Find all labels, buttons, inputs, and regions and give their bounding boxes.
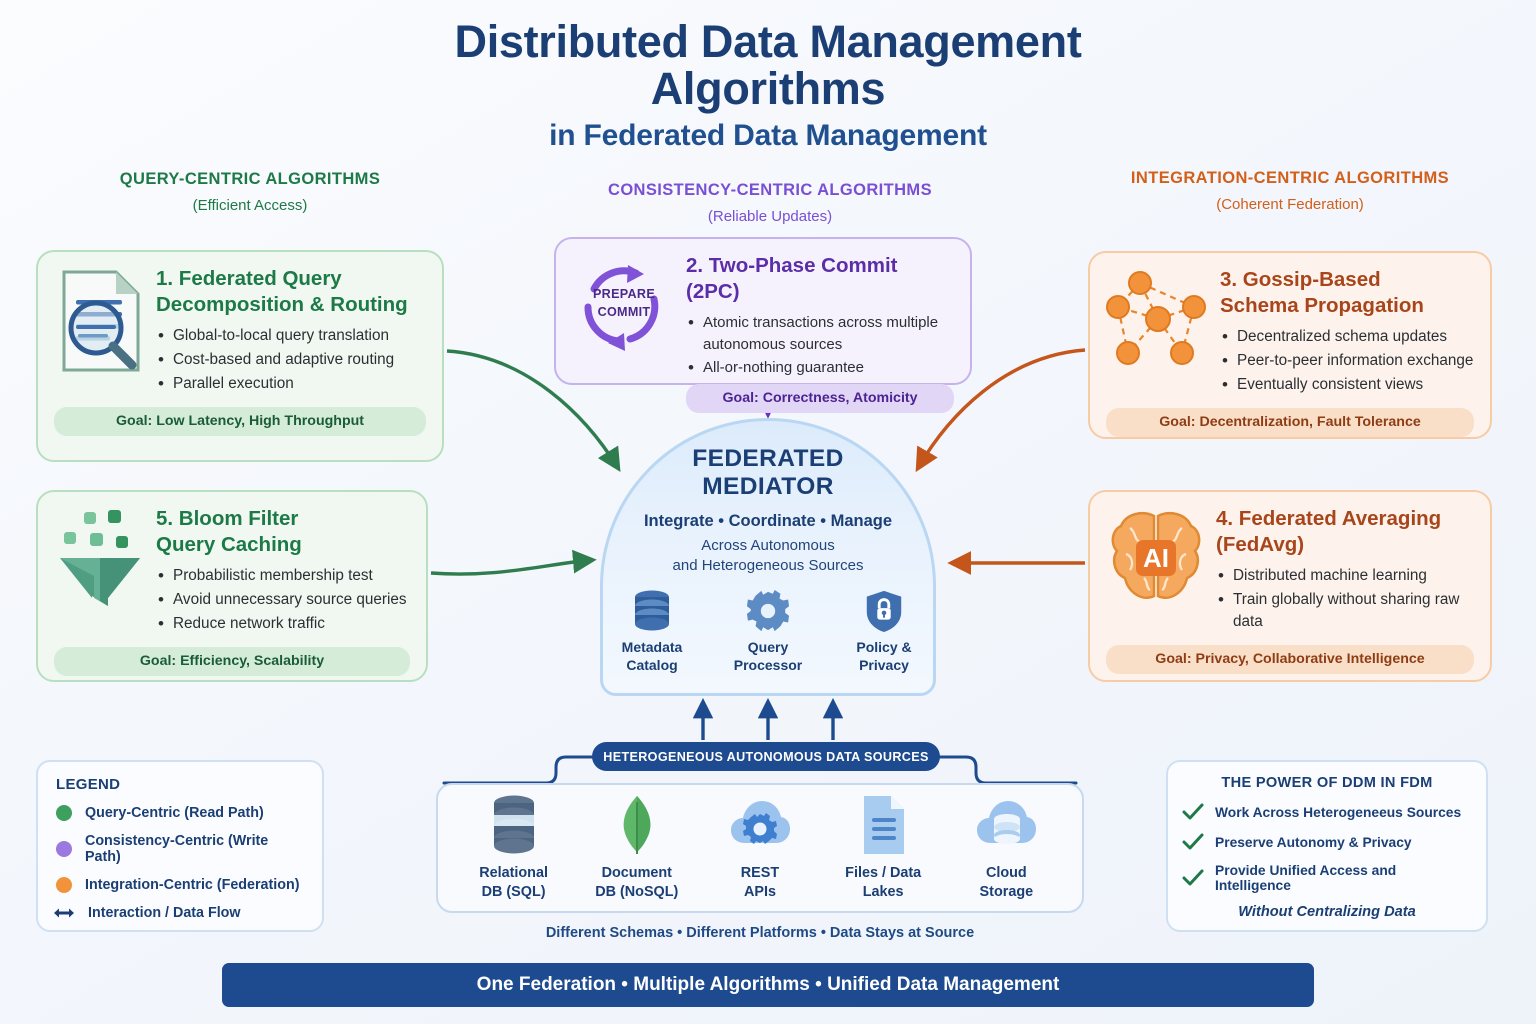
power-title: THE POWER OF DDM IN FDM [1182, 775, 1472, 791]
check-icon [1182, 869, 1204, 887]
card-2-bullets: Atomic transactions across multiple auto… [686, 312, 954, 378]
legend-label: Integration-Centric (Federation) [85, 877, 299, 893]
card-1-title-line-2: Decomposition & Routing [156, 292, 426, 318]
card-4-bullet: Distributed machine learning [1216, 565, 1474, 587]
legend-item-interaction-flow: Interaction / Data Flow [56, 905, 304, 921]
legend-label: Interaction / Data Flow [88, 905, 241, 921]
mediator-title-line-1: FEDERATED [603, 445, 933, 473]
mediator-subtitle-line-2: and Heterogeneous Sources [603, 556, 933, 576]
ai-brain-icon-text: AI [1143, 543, 1169, 573]
page-title: Distributed Data Management Algorithms i… [0, 18, 1536, 153]
column-heading-integration: INTEGRATION-CENTRIC ALGORITHMS (Coherent… [1080, 169, 1500, 213]
card-3-goal-badge: Goal: Decentralization, Fault Tolerance [1106, 408, 1474, 437]
algorithm-card-federated-query-decomposition[interactable]: 1. Federated Query Decomposition & Routi… [36, 250, 444, 462]
cloud-storage-icon [975, 794, 1037, 856]
capability-label: Query [727, 639, 809, 657]
mediator-capability-policy-privacy[interactable]: Policy & Privacy [843, 589, 925, 674]
document-magnifier-icon [54, 266, 146, 376]
data-source-files-data-lakes[interactable]: Files / Data Lakes [825, 794, 941, 901]
card-5-goal-badge: Goal: Efficiency, Scalability [54, 647, 410, 676]
column-heading-integration-label: INTEGRATION-CENTRIC ALGORITHMS [1080, 169, 1500, 188]
data-source-label: Cloud [948, 864, 1064, 883]
power-label: Preserve Autonomy & Privacy [1215, 835, 1412, 850]
power-label: Work Across Heterogeneeus Sources [1215, 805, 1461, 820]
card-5-title-line-1: 5. Bloom Filter [156, 506, 410, 532]
card-1-goal-badge: Goal: Low Latency, High Throughput [54, 407, 426, 436]
data-source-label: Relational [456, 864, 572, 883]
leaf-icon [610, 794, 664, 856]
column-heading-consistency-label: CONSISTENCY-CENTRIC ALGORITHMS [560, 181, 980, 200]
algorithm-card-federated-averaging[interactable]: AI 4. Federated Averaging (FedAvg) Distr… [1088, 490, 1492, 682]
data-source-cloud-storage[interactable]: Cloud Storage [948, 794, 1064, 901]
card-1-bullets: Global-to-local query translation Cost-b… [156, 325, 426, 394]
data-sources-note: Different Schemas • Different Platforms … [436, 925, 1084, 941]
mediator-title-line-2: MEDIATOR [603, 473, 933, 501]
data-source-label: REST [702, 864, 818, 883]
gear-icon [745, 589, 791, 633]
two-phase-cycle-icon: PREPARE COMMIT [572, 255, 676, 359]
data-source-label: Files / Data [825, 864, 941, 883]
algorithm-card-two-phase-commit[interactable]: PREPARE COMMIT 2. Two-Phase Commit (2PC)… [554, 237, 972, 385]
legend-label: Query-Centric (Read Path) [85, 805, 264, 821]
column-heading-integration-sub: (Coherent Federation) [1080, 196, 1500, 213]
card-3-bullets: Decentralized schema updates Peer-to-pee… [1220, 326, 1474, 395]
card-3-bullet: Peer-to-peer information exchange [1220, 350, 1474, 372]
title-line-1: Distributed Data Management [0, 18, 1536, 65]
database-icon [629, 589, 675, 633]
network-nodes-icon [1106, 267, 1210, 371]
mediator-capability-metadata-catalog[interactable]: Metadata Catalog [611, 589, 693, 674]
legend-item-consistency-centric: Consistency-Centric (Write Path) [56, 833, 304, 865]
data-source-label: DB (SQL) [456, 883, 572, 902]
capability-label: Catalog [611, 657, 693, 675]
data-source-label: APIs [702, 883, 818, 902]
card-2-goal-badge: Goal: Correctness, Atomicity [686, 384, 954, 413]
mediator-subtitle-line-1: Across Autonomous [603, 536, 933, 556]
card-4-bullet: Train globally without sharing raw data [1216, 589, 1474, 632]
legend-item-query-centric: Query-Centric (Read Path) [56, 805, 304, 821]
power-item: Work Across Heterogeneeus Sources [1182, 803, 1472, 821]
orange-dot [56, 877, 72, 893]
card-4-title-line-1: 4. Federated Averaging [1216, 506, 1474, 532]
card-1-bullet: Cost-based and adaptive routing [156, 349, 426, 371]
column-heading-query-label: QUERY-CENTRIC ALGORITHMS [40, 170, 460, 189]
card-5-bullet: Probabilistic membership test [156, 565, 410, 587]
card-2-bullet: All-or-nothing guarantee [686, 357, 954, 378]
data-source-label: Storage [948, 883, 1064, 902]
capability-label: Processor [727, 657, 809, 675]
column-heading-query-sub: (Efficient Access) [40, 197, 460, 214]
column-heading-consistency: CONSISTENCY-CENTRIC ALGORITHMS (Reliable… [560, 181, 980, 225]
data-source-label: DB (NoSQL) [579, 883, 695, 902]
double-arrow-icon [56, 906, 75, 920]
green-dot [56, 805, 72, 821]
card-5-bullet: Avoid unnecessary source queries [156, 589, 410, 611]
capability-label: Policy & [843, 639, 925, 657]
arrow-card5-to-mediator [431, 560, 592, 574]
algorithm-card-bloom-filter-query-caching[interactable]: 5. Bloom Filter Query Caching Probabilis… [36, 490, 428, 682]
power-item: Preserve Autonomy & Privacy [1182, 833, 1472, 851]
card-5-title-line-2: Query Caching [156, 532, 410, 558]
check-icon [1182, 833, 1204, 851]
mediator-subtitle-bold: Integrate • Coordinate • Manage [603, 512, 933, 531]
card-5-bullet: Reduce network traffic [156, 613, 410, 635]
data-source-label: Lakes [825, 883, 941, 902]
title-line-2: Algorithms [0, 65, 1536, 112]
mediator-capability-query-processor[interactable]: Query Processor [727, 589, 809, 674]
power-item: Provide Unified Access and Intelligence [1182, 863, 1472, 893]
column-heading-consistency-sub: (Reliable Updates) [560, 208, 980, 225]
file-lines-icon [858, 794, 908, 856]
check-icon [1182, 803, 1204, 821]
card-3-title-line-1: 3. Gossip-Based [1220, 267, 1474, 293]
data-source-document-db[interactable]: Document DB (NoSQL) [579, 794, 695, 901]
data-source-label: Document [579, 864, 695, 883]
data-source-rest-apis[interactable]: REST APIs [702, 794, 818, 901]
card-2-cycle-label-1: PREPARE [572, 285, 676, 303]
capability-label: Metadata [611, 639, 693, 657]
card-2-title-line-1: 2. Two-Phase Commit (2PC) [686, 253, 954, 305]
card-1-title-line-1: 1. Federated Query [156, 266, 426, 292]
card-5-bullets: Probabilistic membership test Avoid unne… [156, 565, 410, 634]
cloud-gear-icon [729, 794, 791, 856]
card-4-title-line-2: (FedAvg) [1216, 532, 1474, 558]
column-heading-query: QUERY-CENTRIC ALGORITHMS (Efficient Acce… [40, 170, 460, 214]
federated-mediator-node[interactable]: FEDERATED MEDIATOR Integrate • Coordinat… [600, 418, 936, 696]
card-4-bullets: Distributed machine learning Train globa… [1216, 565, 1474, 632]
legend-item-integration-centric: Integration-Centric (Federation) [56, 877, 304, 893]
power-label: Provide Unified Access and Intelligence [1215, 863, 1472, 893]
purple-dot [56, 841, 72, 857]
card-3-bullet: Eventually consistent views [1220, 374, 1474, 396]
data-source-relational-db[interactable]: Relational DB (SQL) [456, 794, 572, 901]
data-sources-box: Relational DB (SQL) Document DB (NoSQL) [436, 783, 1084, 913]
card-2-bullet: Atomic transactions across multiple auto… [686, 312, 954, 355]
capability-label: Privacy [843, 657, 925, 675]
database-cylinder-icon [487, 794, 541, 856]
algorithm-card-gossip-based-schema-propagation[interactable]: 3. Gossip-Based Schema Propagation Decen… [1088, 251, 1492, 439]
card-3-title-line-2: Schema Propagation [1220, 293, 1474, 319]
card-1-bullet: Parallel execution [156, 373, 426, 395]
power-of-ddm-panel: THE POWER OF DDM IN FDM Work Across Hete… [1166, 760, 1488, 932]
page-subtitle: in Federated Data Management [0, 119, 1536, 153]
power-footer: Without Centralizing Data [1182, 904, 1472, 920]
card-4-goal-badge: Goal: Privacy, Collaborative Intelligenc… [1106, 645, 1474, 674]
card-1-bullet: Global-to-local query translation [156, 325, 426, 347]
card-3-bullet: Decentralized schema updates [1220, 326, 1474, 348]
ai-brain-icon: AI [1106, 506, 1206, 610]
legend-title: LEGEND [56, 776, 304, 793]
legend-label: Consistency-Centric (Write Path) [85, 833, 304, 865]
data-sources-banner: HETEROGENEOUS AUTONOMOUS DATA SOURCES [592, 742, 940, 771]
legend-panel: LEGEND Query-Centric (Read Path) Consist… [36, 760, 324, 932]
infographic-canvas: Distributed Data Management Algorithms i… [0, 0, 1536, 1024]
shield-lock-icon [861, 589, 907, 633]
bottom-banner: One Federation • Multiple Algorithms • U… [222, 963, 1314, 1007]
card-2-cycle-label-2: COMMIT [572, 303, 676, 321]
bloom-funnel-icon [54, 506, 146, 610]
